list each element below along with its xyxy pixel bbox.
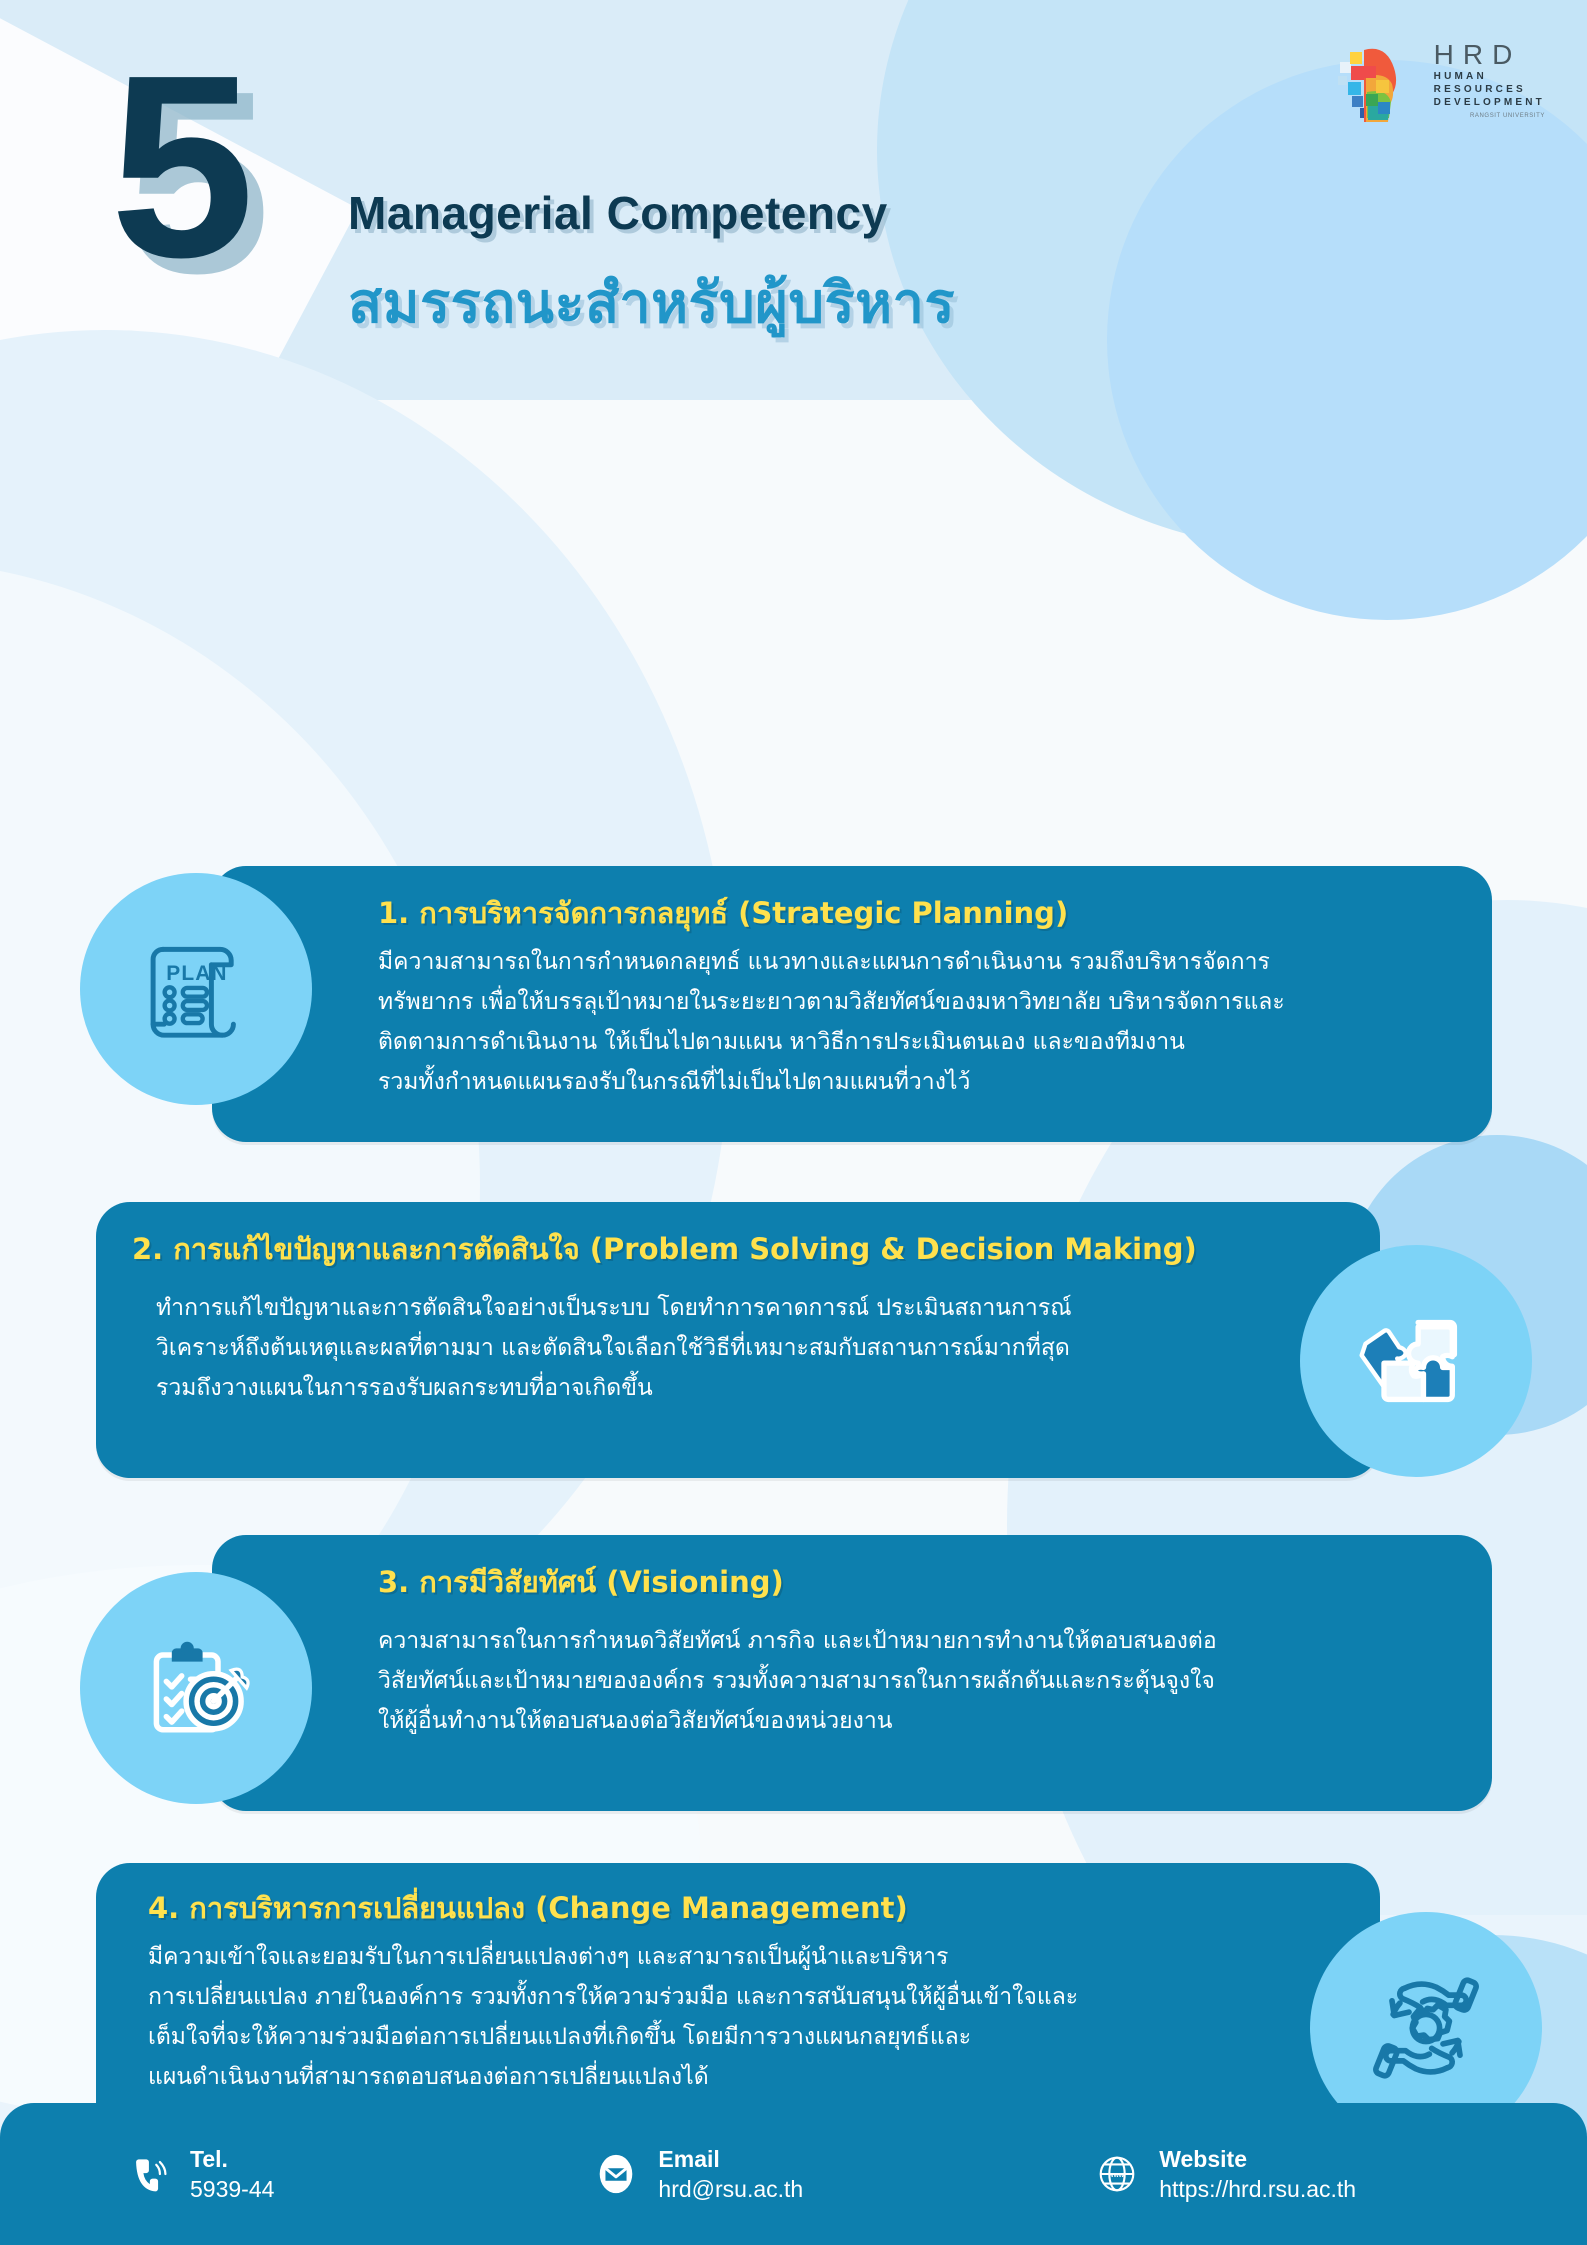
card-4-line-2: การเปลี่ยนแปลง ภายในองค์การ รวมทั้งการให… [148,1977,1078,2017]
card-4-line-1: มีความเข้าใจและยอมรับในการเปลี่ยนแปลงต่า… [148,1937,1078,1977]
logo-line-university: RANGSIT UNIVERSITY [1434,113,1545,119]
card-3-title: 3. การมีวิสัยทัศน์ (Visioning) [378,1559,784,1605]
footer-tel: Tel. 5939-44 [124,2144,274,2204]
card-1-line-2: ทรัพยากร เพื่อให้บรรลุเป้าหมายในระยะยาวต… [378,982,1285,1022]
competency-card-1: 1. การบริหารจัดการกลยุทธ์ (Strategic Pla… [212,866,1492,1142]
footer-email-label: Email [658,2144,803,2174]
card-1-line-4: รวมทั้งกำหนดแผนรองรับในกรณีที่ไม่เป็นไปต… [378,1062,1285,1102]
footer-email: Email hrd@rsu.ac.th [592,2144,803,2204]
footer-website: www. Website https://hrd.rsu.ac.th [1093,2144,1356,2204]
card-2-line-2: วิเคราะห์ถึงต้นเหตุและผลที่ตามมา และตัดส… [156,1328,1072,1368]
footer-email-value[interactable]: hrd@rsu.ac.th [658,2174,803,2204]
contact-footer: Tel. 5939-44 Email hrd@rsu.ac.th [0,2103,1587,2245]
card-4-body: มีความเข้าใจและยอมรับในการเปลี่ยนแปลงต่า… [148,1937,1078,2097]
footer-tel-label: Tel. [190,2144,274,2174]
plan-scroll-icon: PLAN [130,923,262,1055]
card-2-line-3: รวมถึงวางแผนในการรองรับผลกระทบที่อาจเกิด… [156,1368,1072,1408]
logo-line-resources: RESOURCES [1434,83,1545,96]
card-3-body: ความสามารถในการกำหนดวิสัยทัศน์ ภารกิจ แล… [378,1621,1217,1741]
puzzle-pieces-icon [1352,1297,1480,1425]
mosaic-head-icon [1334,36,1420,122]
competency-card-3: 3. การมีวิสัยทัศน์ (Visioning) ความสามาร… [212,1535,1492,1811]
card-1-icon-bubble: PLAN [80,873,312,1105]
logo-hrd-text: HRD [1434,40,1545,70]
card-2-line-1: ทำการแก้ไขปัญหาและการตัดสินใจอย่างเป็นระ… [156,1288,1072,1328]
title-thai: สมรรถนะสำหรับผู้บริหาร [348,258,955,347]
big-number-five: 5 [110,62,249,272]
card-1-line-1: มีความสามารถในการกำหนดกลยุทธ์ แนวทางและแ… [378,942,1285,982]
footer-website-label: Website [1159,2144,1356,2174]
infographic-poster: 5 Managerial Competency สมรรถนะสำหรับผู้… [0,0,1587,2245]
card-3-icon-bubble [80,1572,312,1804]
svg-text:PLAN: PLAN [166,962,227,985]
hrd-logo: HRD HUMAN RESOURCES DEVELOPMENT RANGSIT … [1334,36,1545,122]
footer-website-value[interactable]: https://hrd.rsu.ac.th [1159,2174,1356,2204]
hands-gear-cycle-icon [1358,1960,1494,2096]
title-english: Managerial Competency [348,186,888,240]
logo-line-human: HUMAN [1434,70,1545,83]
svg-text:www.: www. [1108,2172,1126,2179]
card-4-line-4: แผนดำเนินงานที่สามารถตอบสนองต่อการเปลี่ย… [148,2057,1078,2097]
card-3-line-1: ความสามารถในการกำหนดวิสัยทัศน์ ภารกิจ แล… [378,1621,1217,1661]
card-3-line-3: ให้ผู้อื่นทำงานให้ตอบสนองต่อวิสัยทัศน์ขอ… [378,1701,1217,1741]
card-2-title: 2. การแก้ไขปัญหาและการตัดสินใจ (Problem … [132,1226,1197,1272]
card-3-line-2: วิสัยทัศน์และเป้าหมายขององค์กร รวมทั้งคว… [378,1661,1217,1701]
card-2-body: ทำการแก้ไขปัญหาและการตัดสินใจอย่างเป็นระ… [156,1288,1072,1408]
clipboard-target-icon [130,1622,262,1754]
phone-icon [124,2150,172,2198]
logo-line-development: DEVELOPMENT [1434,96,1545,109]
logo-wordmark: HRD HUMAN RESOURCES DEVELOPMENT RANGSIT … [1434,40,1545,119]
email-icon [592,2150,640,2198]
card-4-line-3: เต็มใจที่จะให้ความร่วมมือต่อการเปลี่ยนแป… [148,2017,1078,2057]
card-2-icon-bubble [1300,1245,1532,1477]
footer-tel-value[interactable]: 5939-44 [190,2174,274,2204]
competency-card-2: 2. การแก้ไขปัญหาและการตัดสินใจ (Problem … [96,1202,1380,1478]
globe-icon: www. [1093,2150,1141,2198]
card-1-body: มีความสามารถในการกำหนดกลยุทธ์ แนวทางและแ… [378,942,1285,1102]
card-1-line-3: ติดตามการดำเนินงาน ให้เป็นไปตามแผน หาวิธ… [378,1022,1285,1062]
card-1-title: 1. การบริหารจัดการกลยุทธ์ (Strategic Pla… [378,890,1068,936]
card-4-title: 4. การบริหารการเปลี่ยนแปลง (Change Manag… [148,1885,908,1931]
